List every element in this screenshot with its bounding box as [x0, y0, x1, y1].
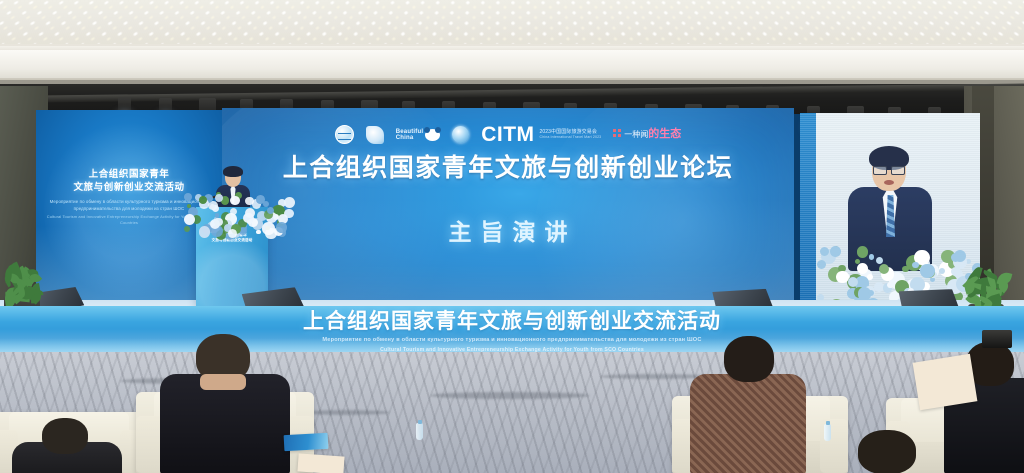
- ecology-qr-icon: [613, 129, 622, 140]
- left-screen-title-line1: 上合组织国家青年: [36, 168, 222, 181]
- citm-wordmark-logo: CITM 2023中国国际旅游交易会 China International T…: [481, 124, 601, 145]
- carpet-streak: [430, 392, 590, 399]
- attendee-left: [160, 334, 290, 473]
- flower: [902, 266, 908, 272]
- beautiful-china-panda-logo: Beautiful China: [396, 129, 440, 141]
- flower: [848, 277, 858, 287]
- attendee-neck: [200, 374, 246, 390]
- flower: [199, 226, 211, 238]
- flower: [879, 264, 889, 274]
- ceiling-led-panel: [0, 0, 1024, 44]
- booklet-on-table: [284, 433, 329, 451]
- citm-wordmark: CITM: [481, 124, 534, 145]
- flower: [199, 196, 208, 205]
- flower: [912, 262, 919, 269]
- attendee-front-right: [846, 430, 932, 473]
- sco-emblem-logo: [335, 125, 354, 144]
- conference-hall-scene: 上合组织国家青年 文旅与创新创业交流活动 Мероприятие по обме…: [0, 0, 1024, 473]
- flower: [855, 259, 860, 264]
- ceiling-soffit: [0, 50, 1024, 84]
- attendee-front-left: [12, 418, 122, 473]
- flower: [256, 195, 265, 204]
- camera-body: [982, 330, 1012, 348]
- flower: [868, 290, 874, 296]
- lower-banner-title: 上合组织国家青年文旅与创新创业交流活动: [0, 310, 1024, 334]
- water-bottle: [824, 424, 831, 441]
- beautiful-china-line1: Beautiful: [396, 129, 423, 135]
- flower: [836, 271, 849, 284]
- citm-subtext-en: China International Travel Mart 2023: [540, 135, 602, 140]
- document-held-by-attendee: [913, 354, 978, 410]
- attendee-head: [42, 418, 88, 454]
- water-bottle: [416, 423, 423, 440]
- ecology-text: 一种闻的生态: [624, 130, 681, 139]
- paper-on-chair: [297, 453, 344, 473]
- lower-banner-subtitle-ru: Мероприятие по обмену в области культурн…: [0, 336, 1024, 344]
- flower: [817, 260, 826, 269]
- camera-rig: [972, 330, 1012, 370]
- lower-banner: 上合组织国家青年文旅与创新创业交流活动 Мероприятие по обмен…: [0, 306, 1024, 358]
- unwto-icon: [366, 126, 384, 144]
- flower: [920, 264, 934, 278]
- sponsor-logo-row: Beautiful China CITM 2023中国国际旅游交易会 China…: [222, 124, 794, 145]
- citm-subtext: 2023中国国际旅游交易会 China International Travel…: [540, 129, 602, 140]
- attendee-right-woman: [690, 336, 806, 473]
- main-led-screen: Beautiful China CITM 2023中国国际旅游交易会 China…: [222, 108, 794, 313]
- attendee-body: [690, 374, 806, 473]
- flower: [215, 194, 223, 202]
- right-led-screen: [800, 113, 980, 313]
- flower: [887, 282, 893, 288]
- flower: [184, 193, 192, 201]
- left-screen-title: 上合组织国家青年 文旅与创新创业交流活动: [36, 168, 222, 194]
- citm-globe-icon: [452, 126, 469, 143]
- attendee-head: [858, 430, 916, 473]
- main-screen-title: 上合组织国家青年文旅与创新创业论坛: [222, 154, 794, 183]
- attendee-head: [724, 336, 774, 382]
- flower: [230, 196, 240, 206]
- live-feed-speaker-mouth: [884, 180, 894, 185]
- flower: [245, 197, 253, 205]
- beautiful-china-label: Beautiful China: [396, 129, 423, 141]
- flower: [184, 226, 190, 232]
- flower: [830, 246, 841, 257]
- ecology-text-c: 的生态: [648, 128, 681, 140]
- panda-icon: [425, 129, 440, 141]
- ecology-campaign-logo: 一种闻的生态: [613, 129, 681, 140]
- flower: [876, 257, 883, 264]
- beautiful-china-line2: China: [396, 135, 423, 141]
- ecology-text-b: 一种闻: [624, 130, 648, 139]
- main-screen-subtitle: 主旨演讲: [222, 218, 794, 246]
- live-feed-speaker-glasses-icon: [873, 166, 905, 173]
- unwto-logo: [366, 126, 384, 144]
- flower: [820, 247, 829, 256]
- sco-emblem-icon: [335, 125, 354, 144]
